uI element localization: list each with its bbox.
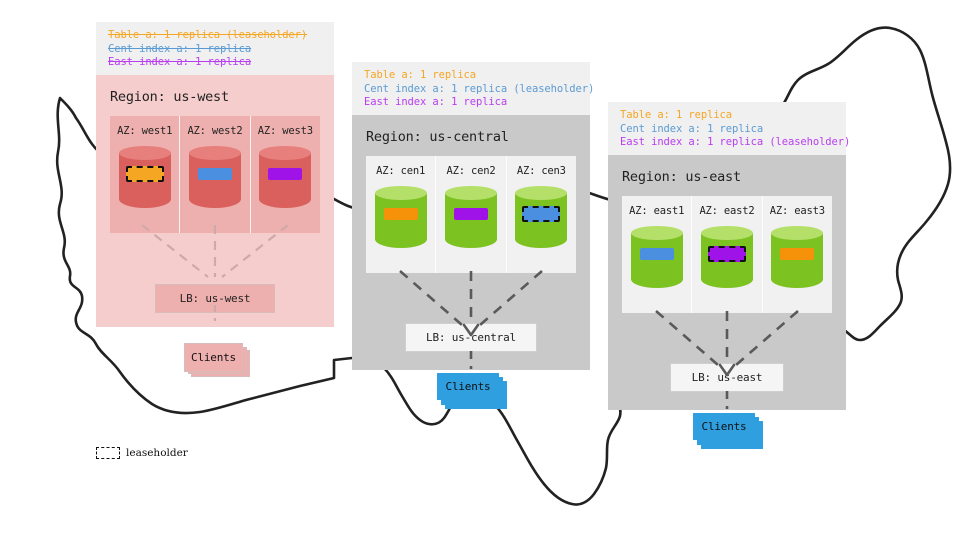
az-row-us-central: AZ: cen1 AZ: cen2 AZ: cen3: [366, 156, 576, 273]
replica-bar-cent-index-a: [522, 206, 560, 222]
legend-line-table-a: Table a: 1 replica: [620, 109, 836, 123]
legend-us-west: Table a: 1 replica (leaseholder) Cent in…: [96, 22, 334, 75]
legend-line-cent-index-a: Cent index a: 1 replica (leaseholder): [364, 83, 580, 97]
clients-box-us-east[interactable]: Clients: [693, 413, 755, 440]
region-body-us-west: Region: us-west AZ: west1 AZ: west2: [96, 75, 334, 327]
node-cylinder-cen1[interactable]: [375, 186, 427, 252]
cylinder-body: [631, 233, 683, 288]
legend-line-east-index-a: East index a: 1 replica: [364, 96, 580, 110]
az-label-west1: AZ: west1: [110, 125, 179, 137]
az-cell-cen2[interactable]: AZ: cen2: [435, 156, 505, 273]
legend-line-table-a: Table a: 1 replica: [364, 69, 580, 83]
legend-us-central: Table a: 1 replica Cent index a: 1 repli…: [352, 62, 590, 115]
az-label-west3: AZ: west3: [251, 125, 320, 137]
load-balancer-us-east[interactable]: LB: us-east: [670, 363, 784, 392]
legend-line-cent-index-a: Cent index a: 1 replica: [108, 43, 324, 57]
load-balancer-us-west[interactable]: LB: us-west: [155, 284, 275, 313]
replica-bar-cent-index-a: [198, 168, 232, 180]
replica-bar-table-a: [384, 208, 418, 220]
az-label-east1: AZ: east1: [622, 205, 691, 217]
region-title-us-east: Region: us-east: [608, 155, 846, 196]
replica-bar-cent-index-a: [640, 248, 674, 260]
az-label-east3: AZ: east3: [763, 205, 832, 217]
az-row-us-east: AZ: east1 AZ: east2 AZ: east3: [622, 196, 832, 313]
region-panel-us-east: Table a: 1 replica Cent index a: 1 repli…: [608, 102, 846, 410]
az-cell-west3[interactable]: AZ: west3: [250, 116, 320, 233]
az-label-cen1: AZ: cen1: [366, 165, 435, 177]
clients-group-us-east: Clients: [693, 413, 765, 449]
region-title-us-central: Region: us-central: [352, 115, 590, 156]
cylinder-body: [189, 153, 241, 208]
az-cell-cen3[interactable]: AZ: cen3: [506, 156, 576, 273]
az-label-cen2: AZ: cen2: [436, 165, 505, 177]
clients-box-us-central[interactable]: Clients: [437, 373, 499, 400]
az-label-west2: AZ: west2: [180, 125, 249, 137]
replica-bar-east-index-a: [268, 168, 302, 180]
node-cylinder-cen3[interactable]: [515, 186, 567, 252]
cylinder-top: [771, 226, 823, 240]
region-body-us-central: Region: us-central AZ: cen1 AZ: cen2: [352, 115, 590, 370]
replica-bar-table-a: [780, 248, 814, 260]
az-cell-west2[interactable]: AZ: west2: [179, 116, 249, 233]
region-title-us-west: Region: us-west: [96, 75, 334, 116]
connector-lines-us-west: [96, 225, 334, 335]
clients-group-us-west: Clients: [184, 343, 250, 377]
cylinder-body: [259, 153, 311, 208]
az-cell-west1[interactable]: AZ: west1: [110, 116, 179, 233]
az-label-cen3: AZ: cen3: [507, 165, 576, 177]
az-cell-east1[interactable]: AZ: east1: [622, 196, 691, 313]
node-cylinder-east1[interactable]: [631, 226, 683, 292]
node-cylinder-west3[interactable]: [259, 146, 311, 212]
az-cell-cen1[interactable]: AZ: cen1: [366, 156, 435, 273]
az-row-us-west: AZ: west1 AZ: west2 AZ: west3: [110, 116, 320, 233]
legend-line-table-a: Table a: 1 replica (leaseholder): [108, 29, 324, 43]
cylinder-top: [259, 146, 311, 160]
clients-box-us-west[interactable]: Clients: [184, 343, 243, 372]
dashed-rect-icon: [96, 447, 120, 459]
az-label-east2: AZ: east2: [692, 205, 761, 217]
replica-bar-east-index-a: [454, 208, 488, 220]
az-cell-east2[interactable]: AZ: east2: [691, 196, 761, 313]
cylinder-top: [631, 226, 683, 240]
cylinder-top: [515, 186, 567, 200]
clients-group-us-central: Clients: [437, 373, 509, 409]
region-body-us-east: Region: us-east AZ: east1 AZ: east2: [608, 155, 846, 410]
cylinder-top: [119, 146, 171, 160]
legend-line-east-index-a: East index a: 1 replica: [108, 56, 324, 70]
node-cylinder-east2[interactable]: [701, 226, 753, 292]
node-cylinder-west2[interactable]: [189, 146, 241, 212]
cylinder-body: [771, 233, 823, 288]
leaseholder-key: leaseholder: [96, 447, 188, 459]
legend-us-east: Table a: 1 replica Cent index a: 1 repli…: [608, 102, 846, 155]
legend-line-cent-index-a: Cent index a: 1 replica: [620, 123, 836, 137]
node-cylinder-west1[interactable]: [119, 146, 171, 212]
cylinder-body: [375, 193, 427, 248]
node-cylinder-cen2[interactable]: [445, 186, 497, 252]
cylinder-top: [375, 186, 427, 200]
az-cell-east3[interactable]: AZ: east3: [762, 196, 832, 313]
replica-bar-east-index-a: [708, 246, 746, 262]
cylinder-top: [445, 186, 497, 200]
cylinder-top: [189, 146, 241, 160]
legend-line-east-index-a: East index a: 1 replica (leaseholder): [620, 136, 836, 150]
cylinder-body: [445, 193, 497, 248]
region-panel-us-central: Table a: 1 replica Cent index a: 1 repli…: [352, 62, 590, 370]
replica-bar-table-a: [126, 166, 164, 182]
node-cylinder-east3[interactable]: [771, 226, 823, 292]
leaseholder-key-label: leaseholder: [126, 447, 188, 459]
cylinder-top: [701, 226, 753, 240]
region-panel-us-west: Table a: 1 replica (leaseholder) Cent in…: [96, 22, 334, 327]
load-balancer-us-central[interactable]: LB: us-central: [405, 323, 537, 352]
